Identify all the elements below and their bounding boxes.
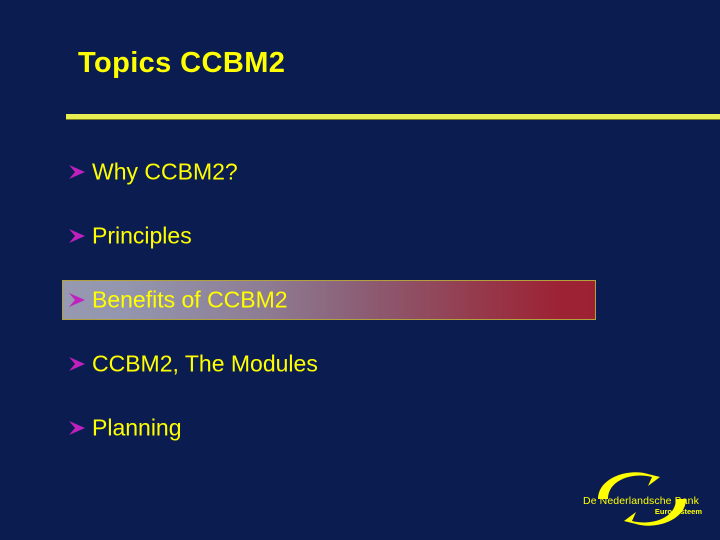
wingdings-arrow-bullet-icon [66,161,88,183]
list-item[interactable]: Principles [0,216,720,256]
list-item-label: Planning [92,417,182,440]
logo-name: De Nederlandsche Bank [578,496,704,507]
presentation-slide: Topics CCBM2 Why CCBM2? Principles [0,0,720,540]
bullet-list: Why CCBM2? Principles Benefits of CCBM2 [0,0,720,540]
list-item-label: Benefits of CCBM2 [92,289,288,312]
wingdings-arrow-bullet-icon [66,353,88,375]
list-item-highlighted[interactable]: Benefits of CCBM2 [0,280,720,320]
list-item[interactable]: Planning [0,408,720,448]
wingdings-arrow-bullet-icon [66,289,88,311]
list-item-label: Principles [92,225,192,248]
wingdings-arrow-bullet-icon [66,225,88,247]
list-item[interactable]: CCBM2, The Modules [0,344,720,384]
list-item-label: Why CCBM2? [92,161,238,184]
logo-subtitle: Eurosysteem [578,508,704,516]
list-item[interactable]: Why CCBM2? [0,152,720,192]
dnb-logo: De Nederlandsche Bank Eurosysteem [578,466,704,532]
wingdings-arrow-bullet-icon [66,417,88,439]
list-item-label: CCBM2, The Modules [92,353,318,376]
